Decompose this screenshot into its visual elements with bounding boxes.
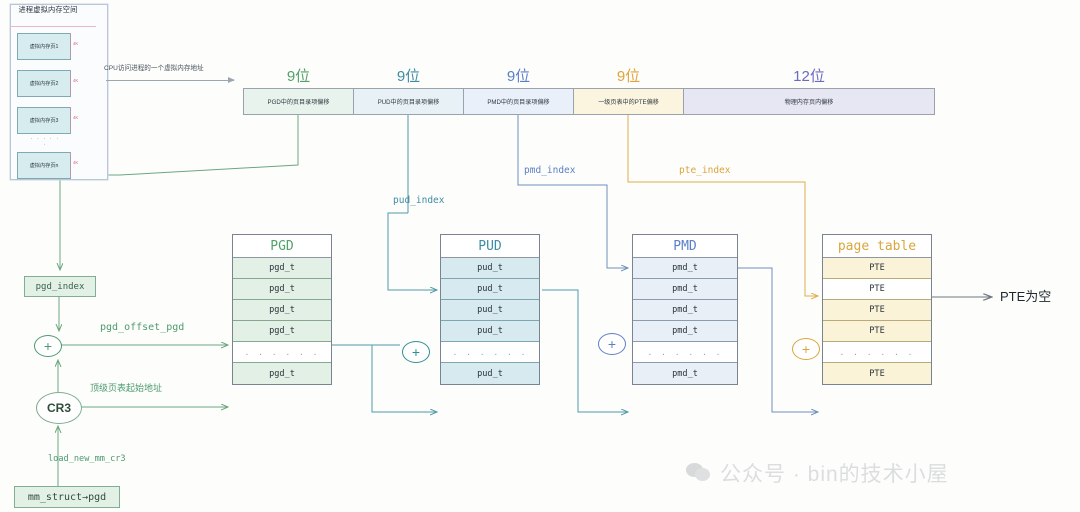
address-segment-pte: 9位 一级页表中的PTE偏移	[573, 88, 683, 115]
pte-plus-icon: +	[792, 338, 820, 360]
vm-page-3: 虚拟内存页3	[17, 107, 71, 134]
page-size-label: 4K	[73, 78, 78, 83]
cpu-access-arrow-icon	[106, 80, 234, 81]
page-size-marker-2: 4K	[70, 70, 85, 95]
bits-label-pte: 9位	[574, 65, 683, 86]
pud-index-label: pud_index	[393, 195, 444, 206]
vm-divider	[10, 26, 96, 27]
watermark: 公众号 · bin的技术小屋	[686, 458, 949, 488]
table-row: pud_t	[441, 321, 539, 342]
page-size-marker-3: 4K	[70, 107, 85, 132]
table-row-ellipsis: . . . . . .	[633, 342, 737, 363]
virtual-address-bar: 9位 PGD中的页目录项偏移 9位 PUD中的页目录项偏移 9位 PMD中的页目…	[243, 88, 935, 115]
address-segment-pud: 9位 PUD中的页目录项偏移	[353, 88, 463, 115]
pmd-index-label: pmd_index	[524, 165, 575, 176]
wechat-icon	[686, 463, 712, 483]
bits-label-pud: 9位	[354, 65, 463, 86]
address-segment-label: PUD中的页目录项偏移	[378, 97, 440, 106]
table-row: pmd_t	[633, 321, 737, 342]
address-segment-offset: 12位 物理内存页内偏移	[683, 88, 935, 115]
bits-label-offset: 12位	[684, 65, 934, 86]
address-segment-pgd: 9位 PGD中的页目录项偏移	[243, 88, 353, 115]
watermark-text: 公众号 · bin的技术小屋	[720, 458, 949, 488]
table-row: pud_t	[441, 363, 539, 384]
page-size-marker-1: 4K	[70, 33, 85, 58]
pgd-table-title: PGD	[233, 235, 331, 258]
pte-empty-result-label: PTE为空	[1000, 286, 1051, 305]
address-segment-label: PGD中的页目录项偏移	[268, 97, 330, 106]
cr3-register: CR3	[36, 392, 82, 424]
table-row: PTE	[823, 321, 931, 342]
pud-table: PUD pud_t pud_t pud_t pud_t . . . . . . …	[440, 234, 540, 385]
page-size-label: 4K	[73, 115, 78, 120]
table-row: pmd_t	[633, 300, 737, 321]
mm-struct-pgd-box: mm_struct→pgd	[14, 486, 120, 508]
pgd-plus-icon: +	[34, 335, 62, 357]
table-row: pgd_t	[233, 279, 331, 300]
page-table: page table PTE PTE PTE PTE . . . . . . P…	[822, 234, 932, 385]
page-size-label: 4K	[73, 41, 78, 46]
address-segment-label: 物理内存页内偏移	[785, 97, 834, 106]
table-row: pud_t	[441, 300, 539, 321]
table-row-empty: PTE	[823, 279, 931, 300]
bits-label-pmd: 9位	[464, 65, 573, 86]
table-row: PTE	[823, 363, 931, 384]
address-segment-label: PMD中的页目录项偏移	[487, 97, 549, 106]
pud-plus-icon: +	[402, 341, 430, 363]
address-segment-label: 一级页表中的PTE偏移	[598, 97, 659, 106]
table-row: pud_t	[441, 279, 539, 300]
vm-page-1: 虚拟内存页1	[17, 33, 71, 60]
page-size-label: 4K	[73, 160, 78, 165]
page-size-marker-4: 4K	[70, 152, 85, 177]
pte-index-label: pte_index	[679, 165, 730, 176]
table-row-ellipsis: . . . . . .	[233, 342, 331, 363]
vm-panel-title: 进程虚拟内存空间	[0, 5, 96, 15]
table-row: pgd_t	[233, 300, 331, 321]
table-row-ellipsis: . . . . . .	[823, 342, 931, 363]
pud-table-title: PUD	[441, 235, 539, 258]
table-row: pgd_t	[233, 321, 331, 342]
pmd-table-title: PMD	[633, 235, 737, 258]
bits-label-pgd: 9位	[244, 65, 353, 86]
pmd-plus-icon: +	[598, 333, 626, 355]
vm-page-n: 虚拟内存页n	[17, 152, 71, 179]
table-row: PTE	[823, 300, 931, 321]
address-segment-pmd: 9位 PMD中的页目录项偏移	[463, 88, 573, 115]
pgd-offset-label: pgd_offset_pgd	[100, 322, 184, 333]
vm-page-2: 虚拟内存页2	[17, 70, 71, 97]
load-new-mm-cr3-label: load_new_mm_cr3	[48, 454, 126, 464]
table-row-ellipsis: . . . . . .	[441, 342, 539, 363]
pmd-table: PMD pmd_t pmd_t pmd_t pmd_t . . . . . . …	[632, 234, 738, 385]
table-row: pgd_t	[233, 258, 331, 279]
table-row: pmd_t	[633, 363, 737, 384]
page-table-title: page table	[823, 235, 931, 258]
table-row: pmd_t	[633, 258, 737, 279]
table-row: PTE	[823, 258, 931, 279]
pgd-table: PGD pgd_t pgd_t pgd_t pgd_t . . . . . . …	[232, 234, 332, 385]
table-row: pud_t	[441, 258, 539, 279]
top-page-table-base-label: 顶级页表起始地址	[90, 381, 162, 394]
pgd-index-box: pgd_index	[24, 276, 96, 297]
table-row: pmd_t	[633, 279, 737, 300]
cpu-access-label: CPU访问进程的一个虚拟内存地址	[104, 62, 204, 72]
vm-pages-ellipsis: · · · · · ·	[30, 136, 60, 148]
table-row: pgd_t	[233, 363, 331, 384]
